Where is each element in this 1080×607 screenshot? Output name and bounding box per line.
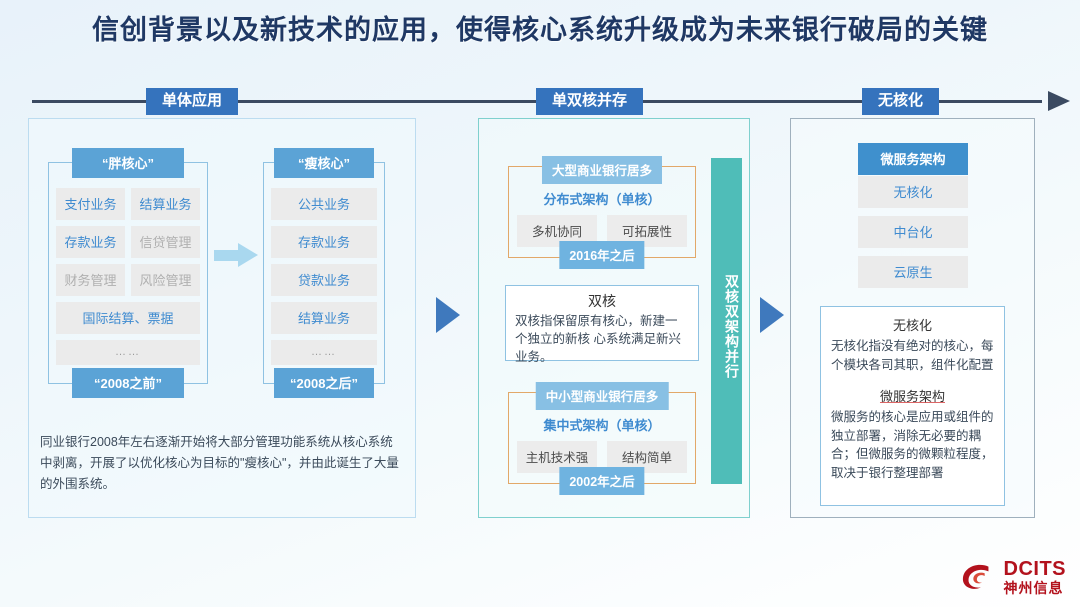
company-logo: DCITS 神州信息 (960, 559, 1067, 595)
timeline-arrow-icon (1048, 91, 1070, 111)
thin-core-items: 公共业务 存款业务 贷款业务 结算业务 …… (271, 188, 377, 371)
arrow-head (238, 243, 258, 267)
list-item-ellipsis: …… (56, 340, 200, 365)
coreless-body: 无核化指没有绝对的核心，每个模块各司其职，组件化配置 (831, 337, 994, 374)
table-row: 支付业务 结算业务 (56, 188, 200, 226)
logo-cn: 神州信息 (1004, 581, 1067, 595)
timeline-label-monolith[interactable]: 单体应用 (146, 88, 238, 115)
thin-core-title: “瘦核心” (274, 148, 374, 178)
timeline-label-coreless[interactable]: 无核化 (862, 88, 939, 115)
large-bank-box: 大型商业银行居多 分布式架构（单核） 多机协同 可拓展性 2016年之后 (508, 166, 696, 258)
list-item-ellipsis: …… (271, 340, 377, 365)
dualcore-description-box: 双核 双核指保留原有核心，新建一个独立的新核 心系统满足新兴业务。 (505, 285, 699, 361)
list-item[interactable]: 支付业务 (56, 188, 125, 220)
list-item[interactable]: 中台化 (858, 216, 968, 248)
list-item[interactable]: 存款业务 (56, 226, 125, 258)
thin-core-period: “2008之后” (274, 368, 374, 398)
list-item[interactable]: 贷款业务 (271, 264, 377, 296)
logo-en: DCITS (1004, 559, 1067, 579)
microservice-title: 微服务架构 (858, 143, 968, 175)
dual-architecture-label: 双核双架构并行 (711, 236, 742, 416)
list-item[interactable]: 公共业务 (271, 188, 377, 220)
timeline: 单体应用 单双核并存 无核化 (22, 88, 1062, 116)
list-item[interactable]: 存款业务 (271, 226, 377, 258)
fat-core-period: “2008之前” (72, 368, 184, 398)
microservice-body: 微服务的核心是应用或组件的独立部署，消除无必要的耦合；但微服务的微颗粒程度，取决… (831, 408, 994, 482)
page-title: 信创背景以及新技术的应用，使得核心系统升级成为未来银行破局的关键 (0, 8, 1080, 47)
microservice-features: 无核化 中台化 云原生 (858, 176, 968, 296)
coreless-title: 无核化 (831, 315, 994, 334)
dual-architecture-bar: 双核双架构并行 (711, 158, 742, 484)
list-item[interactable]: 国际结算、票据 (56, 302, 200, 334)
list-item[interactable]: 风险管理 (131, 264, 200, 296)
fat-core-items: 支付业务 结算业务 存款业务 信贷管理 财务管理 风险管理 国际结算、票据 …… (56, 188, 200, 371)
fat-core-title: “胖核心” (72, 148, 184, 178)
timeline-label-dualcore[interactable]: 单双核并存 (536, 88, 643, 115)
large-bank-period: 2016年之后 (559, 241, 644, 269)
list-item[interactable]: 云原生 (858, 256, 968, 288)
stage-arrow-1-icon (436, 297, 460, 333)
small-bank-subtitle: 集中式架构（单核） (509, 415, 695, 434)
dcits-swirl-icon (960, 560, 998, 594)
small-bank-period: 2002年之后 (559, 467, 644, 495)
dualcore-title: 双核 (515, 291, 689, 311)
list-item[interactable]: 结算业务 (131, 188, 200, 220)
arrow-shaft (214, 250, 240, 261)
coreless-description-box: 无核化 无核化指没有绝对的核心，每个模块各司其职，组件化配置 微服务架构 微服务… (820, 306, 1005, 506)
microservice-subtitle: 微服务架构 (831, 386, 994, 405)
logo-text: DCITS 神州信息 (1004, 559, 1067, 595)
list-item[interactable]: 信贷管理 (131, 226, 200, 258)
table-row: 财务管理 风险管理 (56, 264, 200, 302)
list-item[interactable]: 结算业务 (271, 302, 377, 334)
stage-arrow-2-icon (760, 297, 784, 333)
transition-arrow-icon (214, 243, 258, 267)
list-item[interactable]: 无核化 (858, 176, 968, 208)
small-bank-box: 中小型商业银行居多 集中式架构（单核） 主机技术强 结构简单 2002年之后 (508, 392, 696, 484)
large-bank-subtitle: 分布式架构（单核） (509, 189, 695, 208)
dualcore-body: 双核指保留原有核心，新建一个独立的新核 心系统满足新兴业务。 (515, 312, 689, 366)
table-row: 存款业务 信贷管理 (56, 226, 200, 264)
large-bank-title: 大型商业银行居多 (542, 156, 662, 184)
list-item[interactable]: 财务管理 (56, 264, 125, 296)
thin-core-group: “瘦核心” 公共业务 存款业务 贷款业务 结算业务 …… “2008之后” (263, 148, 385, 398)
panel-monolith-note: 同业银行2008年左右逐渐开始将大部分管理功能系统从核心系统中剥离，开展了以优化… (40, 432, 400, 495)
small-bank-title: 中小型商业银行居多 (536, 382, 669, 410)
fat-core-group: “胖核心” 支付业务 结算业务 存款业务 信贷管理 财务管理 风险管理 国际结算… (48, 148, 208, 398)
